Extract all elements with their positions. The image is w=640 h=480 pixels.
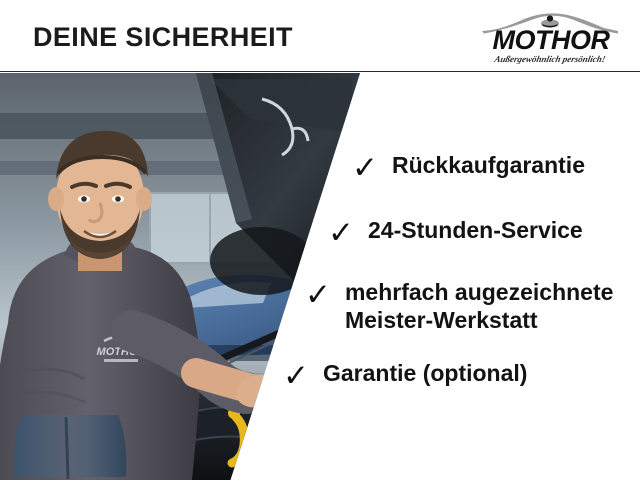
check-icon: ✓	[305, 278, 331, 312]
benefits-list: ✓ Rückkaufgarantie ✓ 24-Stunden-Service …	[0, 73, 640, 480]
list-item-label: mehrfach augezeichnete Meister-Werkstatt	[345, 278, 613, 334]
infographic-banner: DEINE SICHERHEIT MOTHOR Außergewöhnlich …	[0, 0, 640, 480]
list-item: ✓ Garantie (optional)	[283, 359, 527, 393]
check-icon: ✓	[328, 216, 354, 250]
check-icon: ✓	[352, 151, 378, 185]
list-item-label-line2: Meister-Werkstatt	[345, 306, 613, 334]
page-title: DEINE SICHERHEIT	[33, 22, 293, 53]
list-item: ✓ mehrfach augezeichnete Meister-Werksta…	[305, 278, 613, 334]
list-item: ✓ 24-Stunden-Service	[328, 216, 583, 250]
list-item-label: 24-Stunden-Service	[368, 216, 583, 244]
header-bar: DEINE SICHERHEIT MOTHOR Außergewöhnlich …	[0, 0, 640, 72]
list-item: ✓ Rückkaufgarantie	[352, 151, 585, 185]
list-item-label-line1: mehrfach augezeichnete	[345, 279, 613, 305]
content-area: MOTHOR	[0, 73, 640, 480]
list-item-label: Rückkaufgarantie	[392, 151, 585, 179]
list-item-label: Garantie (optional)	[323, 359, 527, 387]
logo-tagline: Außergewöhnlich persönlich!	[477, 54, 623, 64]
logo-wordmark: MOTHOR	[480, 27, 622, 54]
brand-logo: MOTHOR Außergewöhnlich persönlich!	[478, 10, 622, 66]
check-icon: ✓	[283, 359, 309, 393]
